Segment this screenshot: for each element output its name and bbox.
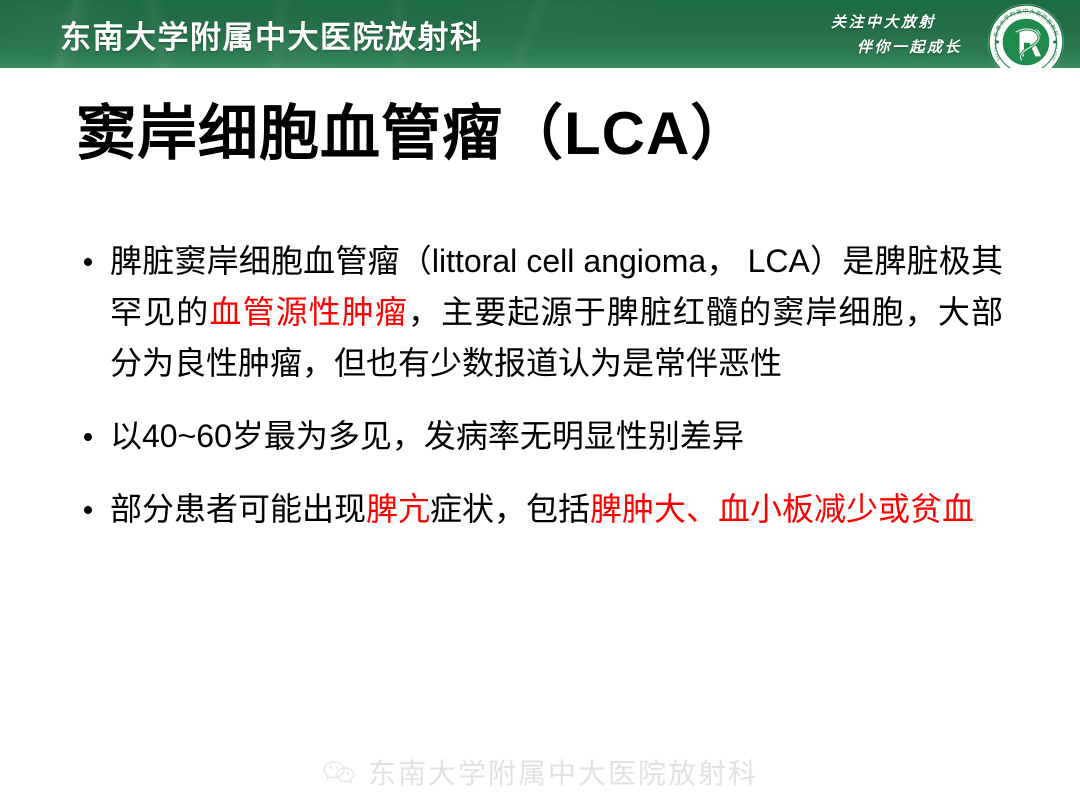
bullet-definition: 脾脏窦岸细胞血管瘤（littoral cell angioma， LCA）是脾脏…: [78, 236, 1003, 389]
header-slogan-line-2: 伴你一起成长: [831, 36, 962, 57]
header-slogan-line-1: 关注中大放射: [831, 11, 962, 32]
wechat-icon: [322, 758, 356, 786]
bullet-epidemiology: 以40~60岁最为多见，发病率无明显性别差异: [78, 411, 1003, 462]
slide-body-bullet-list: 脾脏窦岸细胞血管瘤（littoral cell angioma， LCA）是脾脏…: [78, 236, 1003, 557]
bullet-symptoms-segment-0: 部分患者可能出现: [110, 491, 366, 527]
footer-watermark: 东南大学附属中大医院放射科: [0, 752, 1080, 792]
bullet-epidemiology-segment-0: 以40~60岁最为多见，发病率无明显性别差异: [110, 418, 744, 454]
bullet-symptoms-segment-2: 症状，包括: [430, 491, 590, 527]
slide-header: 东南大学附属中大医院放射科 关注中大放射 伴你一起成长 东南大学附属中大医院放射…: [0, 0, 1080, 68]
bullet-symptoms-segment-1: 脾亢: [366, 491, 430, 527]
slide-title: 窦岸细胞血管瘤（LCA）: [76, 96, 751, 171]
header-slogan: 关注中大放射 伴你一起成长: [831, 0, 962, 68]
bullet-symptoms-segment-3: 脾肿大、血小板减少或贫血: [590, 491, 974, 527]
bullet-definition-segment-1: 血管源性肿瘤: [209, 294, 408, 330]
header-department-title: 东南大学附属中大医院放射科: [60, 0, 483, 68]
hospital-radiology-seal-logo: 东南大学附属中大医院放射科 DEPARTMENT OF RADIOLOGY ZH…: [986, 2, 1066, 68]
footer-watermark-text: 东南大学附属中大医院放射科: [368, 752, 758, 792]
bullet-symptoms: 部分患者可能出现脾亢症状，包括脾肿大、血小板减少或贫血: [78, 484, 1003, 535]
